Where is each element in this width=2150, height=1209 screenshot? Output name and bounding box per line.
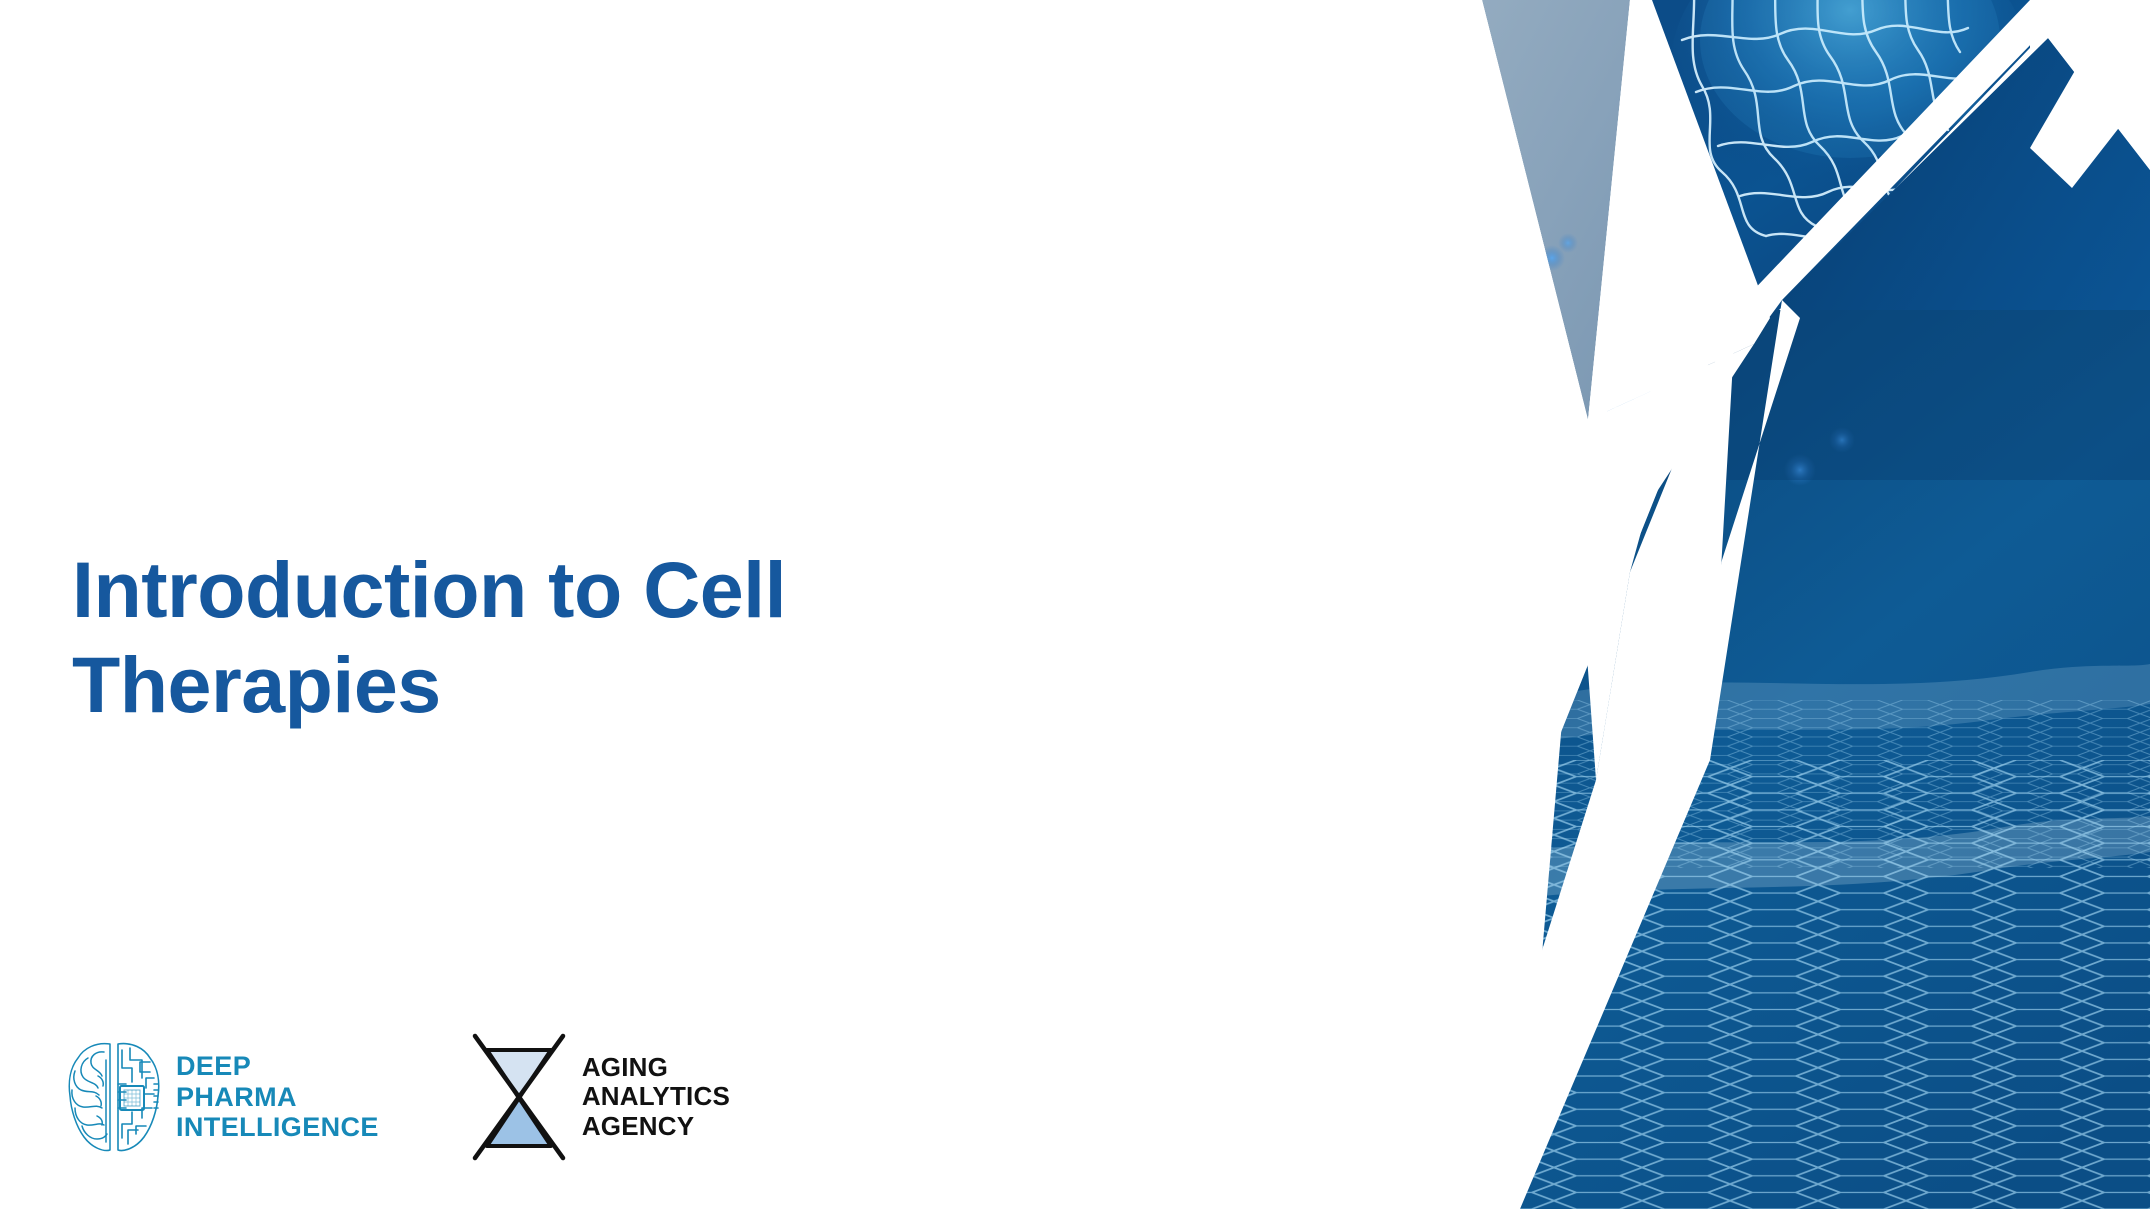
left-content-column: Introduction to Cell Therapies: [0, 0, 1330, 1209]
dpi-line-1: DEEP: [176, 1051, 379, 1082]
hourglass-x-icon: [467, 1030, 571, 1164]
aaa-line-2: ANALYTICS: [582, 1082, 730, 1112]
decorative-graphic-panel: [1330, 0, 2150, 1209]
dpi-line-2: PHARMA: [176, 1082, 379, 1113]
page-title: Introduction to Cell Therapies: [72, 543, 972, 733]
logo-aging-analytics-agency: AGING ANALYTICS AGENCY: [467, 1030, 730, 1164]
brain-circuit-icon: [66, 1038, 162, 1156]
dpi-line-3: INTELLIGENCE: [176, 1112, 379, 1143]
aaa-line-3: AGENCY: [582, 1112, 730, 1142]
logo-deep-pharma-intelligence-wordmark: DEEP PHARMA INTELLIGENCE: [176, 1051, 379, 1143]
shard-collage-svg: [1330, 0, 2150, 1209]
logo-strip: DEEP PHARMA INTELLIGENCE AGING: [66, 1030, 730, 1164]
slide-root: Introduction to Cell Therapies: [0, 0, 2150, 1209]
aaa-line-1: AGING: [582, 1053, 730, 1083]
logo-aging-analytics-agency-wordmark: AGING ANALYTICS AGENCY: [582, 1053, 730, 1142]
logo-deep-pharma-intelligence: DEEP PHARMA INTELLIGENCE: [66, 1038, 379, 1156]
